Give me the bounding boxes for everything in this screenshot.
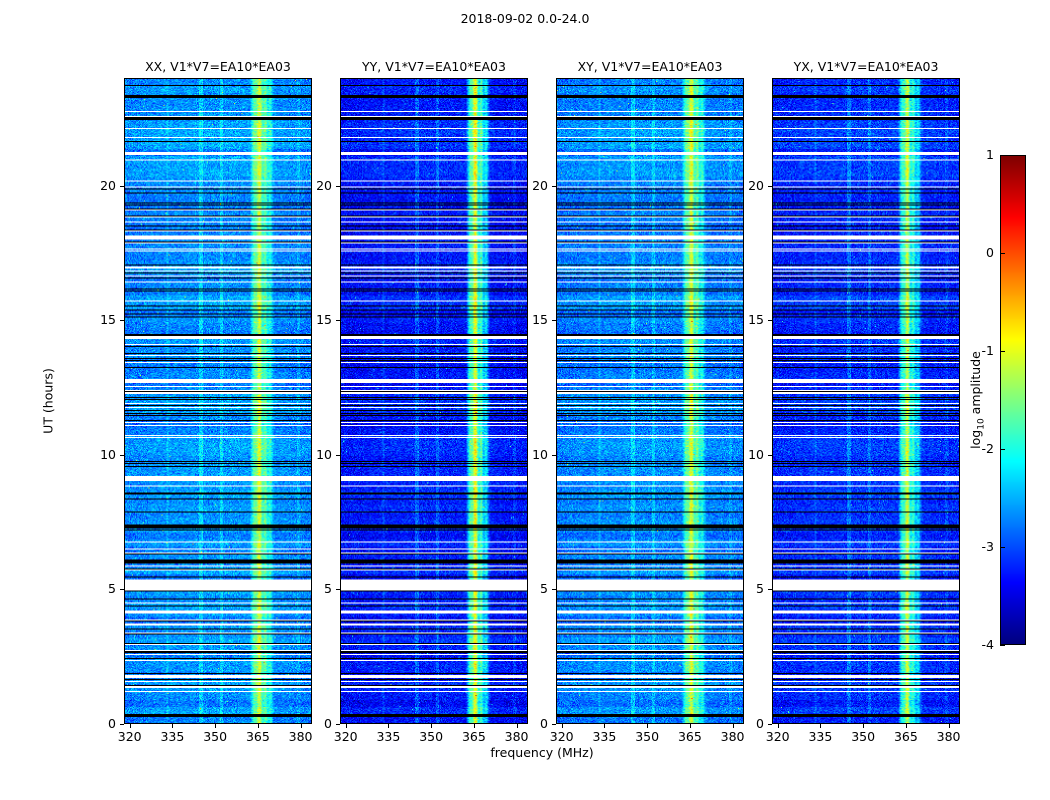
spectrum-image-yy [341,79,527,723]
figure-suptitle: 2018-09-02 0.0-24.0 [0,11,1050,26]
x-tick-label: 380 [713,729,753,744]
y-tick-label: 0 [734,717,764,731]
colorbar-gradient [1001,156,1025,644]
colorbar-tick-mark [1000,253,1005,254]
y-tick-mark [552,186,556,187]
y-tick-label: 15 [302,313,332,327]
x-tick-label: 335 [152,729,192,744]
y-tick-mark [768,320,772,321]
panel-title-xx: XX, V1*V7=EA10*EA03 [124,58,312,76]
y-tick-mark [768,589,772,590]
y-tick-mark [768,455,772,456]
x-tick-label: 380 [929,729,969,744]
colorbar-label-sub: 10 [976,418,986,429]
colorbar-label-tail: amplitude [968,351,983,418]
y-tick-label: 10 [302,448,332,462]
y-tick-mark [120,724,124,725]
spectrum-panel-yy[interactable] [340,78,528,724]
y-tick-label: 15 [518,313,548,327]
y-tick-mark [336,589,340,590]
x-tick-label: 380 [281,729,321,744]
figure-canvas: 2018-09-02 0.0-24.0 XX, V1*V7=EA10*EA03 … [0,0,1050,800]
spectrum-panel-yx[interactable] [772,78,960,724]
y-tick-label: 5 [734,582,764,596]
x-tick-label: 320 [542,729,582,744]
y-tick-mark [120,186,124,187]
colorbar-tick-label: 1 [964,148,994,162]
x-tick-mark [562,724,563,728]
x-tick-mark [130,724,131,728]
colorbar-tick-label: -4 [964,638,994,652]
x-tick-label: 320 [758,729,798,744]
colorbar-tick-mark [1000,449,1005,450]
panel-title-xy: XY, V1*V7=EA10*EA03 [556,58,744,76]
panel-title-yx: YX, V1*V7=EA10*EA03 [772,58,960,76]
y-tick-mark [552,455,556,456]
x-tick-mark [906,724,907,728]
spectrum-image-xy [557,79,743,723]
y-tick-mark [552,589,556,590]
colorbar-label: log10 amplitude [968,351,987,449]
x-tick-label: 335 [800,729,840,744]
y-tick-mark [120,320,124,321]
x-tick-mark [778,724,779,728]
y-axis-label: UT (hours) [41,368,56,434]
x-tick-label: 350 [411,729,451,744]
y-tick-label: 10 [86,448,116,462]
y-tick-label: 5 [302,582,332,596]
y-tick-label: 20 [302,179,332,193]
x-tick-mark [949,724,950,728]
x-tick-mark [474,724,475,728]
x-tick-label: 365 [238,729,278,744]
y-tick-mark [552,724,556,725]
colorbar[interactable] [1000,155,1026,645]
y-tick-mark [552,320,556,321]
x-tick-mark [388,724,389,728]
x-tick-label: 365 [886,729,926,744]
spectrum-image-xx [125,79,311,723]
y-tick-mark [768,724,772,725]
colorbar-label-main: log [968,430,983,449]
x-tick-label: 335 [368,729,408,744]
y-tick-mark [336,455,340,456]
y-tick-mark [120,455,124,456]
y-tick-label: 0 [302,717,332,731]
x-tick-label: 335 [584,729,624,744]
x-tick-mark [647,724,648,728]
x-tick-label: 365 [454,729,494,744]
x-tick-mark [258,724,259,728]
y-tick-label: 0 [86,717,116,731]
y-tick-label: 0 [518,717,548,731]
x-tick-mark [604,724,605,728]
x-tick-label: 380 [497,729,537,744]
y-tick-mark [336,320,340,321]
colorbar-tick-mark [1000,645,1005,646]
x-tick-mark [172,724,173,728]
spectrum-panel-xy[interactable] [556,78,744,724]
colorbar-tick-mark [1000,155,1005,156]
x-tick-mark [690,724,691,728]
y-tick-label: 20 [86,179,116,193]
spectrum-panel-xx[interactable] [124,78,312,724]
y-tick-label: 15 [734,313,764,327]
y-tick-mark [336,724,340,725]
y-tick-label: 20 [734,179,764,193]
x-tick-label: 320 [110,729,150,744]
colorbar-tick-mark [1000,351,1005,352]
spectrum-image-yx [773,79,959,723]
x-tick-label: 350 [195,729,235,744]
y-tick-mark [768,186,772,187]
x-tick-label: 350 [843,729,883,744]
y-tick-label: 20 [518,179,548,193]
x-tick-label: 365 [670,729,710,744]
x-tick-mark [215,724,216,728]
colorbar-tick-label: -3 [964,540,994,554]
panel-title-yy: YY, V1*V7=EA10*EA03 [340,58,528,76]
y-tick-label: 5 [86,582,116,596]
x-tick-label: 350 [627,729,667,744]
x-tick-mark [820,724,821,728]
colorbar-tick-mark [1000,547,1005,548]
colorbar-tick-label: 0 [964,246,994,260]
y-tick-label: 5 [518,582,548,596]
y-tick-label: 15 [86,313,116,327]
x-tick-label: 320 [326,729,366,744]
y-tick-label: 10 [734,448,764,462]
x-tick-mark [863,724,864,728]
x-axis-label: frequency (MHz) [124,745,960,760]
y-tick-label: 10 [518,448,548,462]
x-tick-mark [431,724,432,728]
x-tick-mark [346,724,347,728]
y-tick-mark [120,589,124,590]
y-tick-mark [336,186,340,187]
